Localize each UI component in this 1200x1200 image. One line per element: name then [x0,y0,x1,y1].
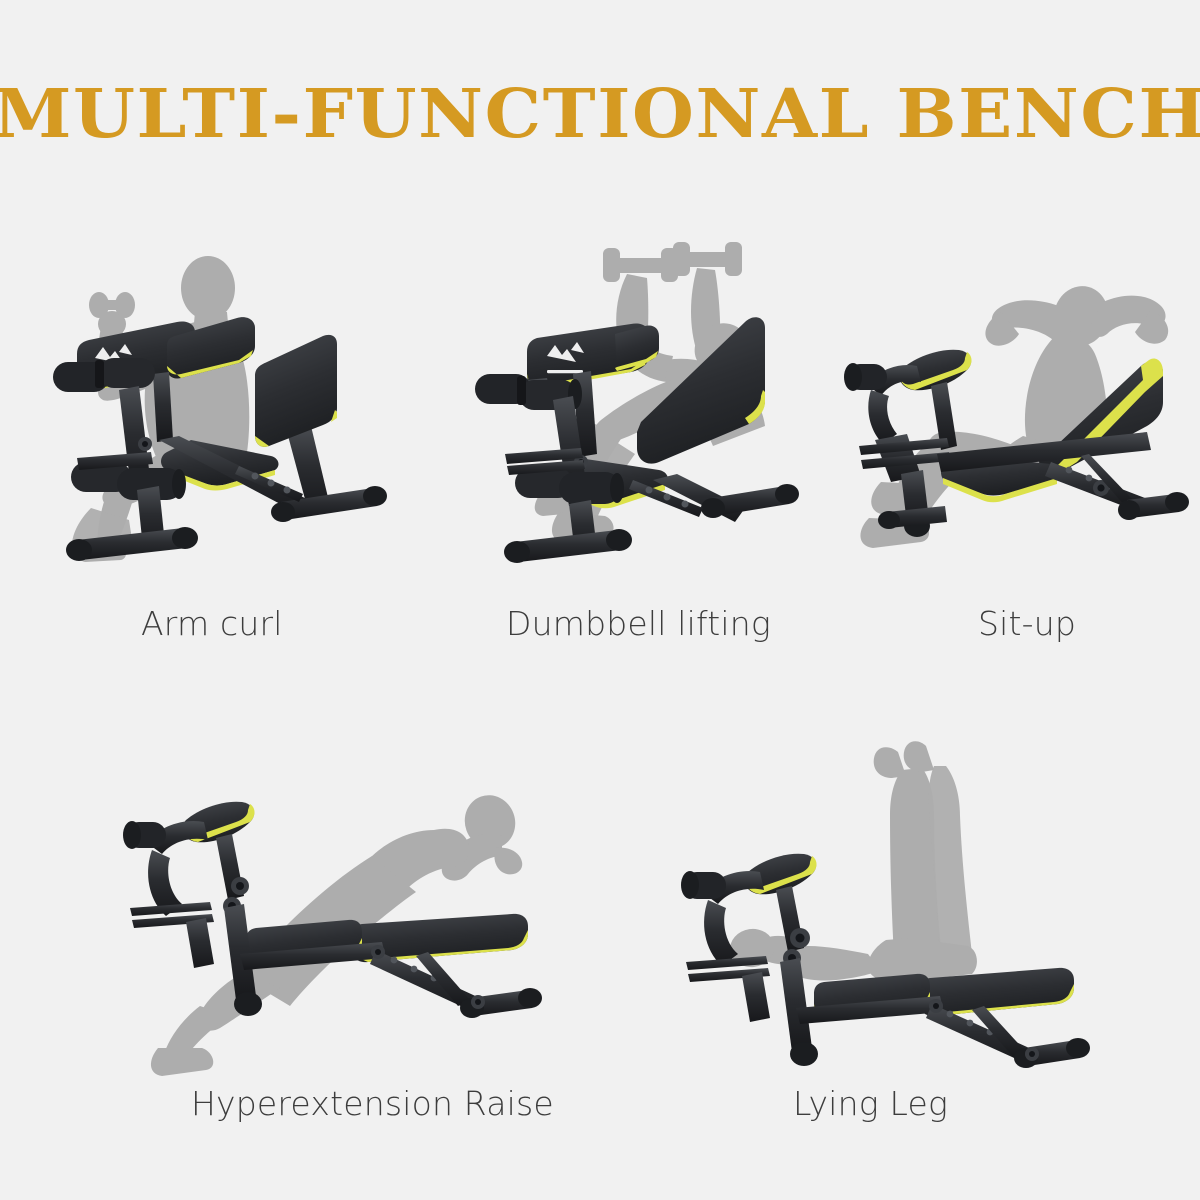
bench-hardware-dumbbell [475,317,799,563]
exercise-panel-arm-curl [55,240,415,590]
caption-arm-curl: Arm curl [141,605,283,643]
caption-sit-up: Sit-up [978,605,1076,643]
bench-sit-up-illustration [845,250,1195,580]
foam-roller-lower [515,468,624,504]
foam-roller-upper [53,358,155,392]
caption-lying-leg: Lying Leg [793,1085,948,1123]
bench-hyperextension-illustration [140,760,540,1080]
caption-dumbbell-lifting: Dumbbell lifting [506,605,771,643]
bench-arm-curl-illustration [55,240,415,590]
foam-roller-upper [123,821,166,849]
bench-dumbbell-lifting-illustration [445,240,805,590]
exercise-panel-lying-leg [680,740,1080,1080]
exercise-panel-dumbbell-lifting [445,240,805,590]
caption-hyperextension-raise: Hyperextension Raise [191,1085,554,1123]
exercise-panel-sit-up [845,250,1195,580]
bench-lying-leg-illustration [680,740,1080,1080]
infographic-page: MULTI-FUNCTIONAL BENCH [0,0,1200,1200]
exercise-panel-hyperextension-raise [140,760,540,1080]
foam-roller-upper [844,363,887,391]
page-title: MULTI-FUNCTIONAL BENCH [0,78,1200,150]
foam-roller-upper [681,871,726,899]
